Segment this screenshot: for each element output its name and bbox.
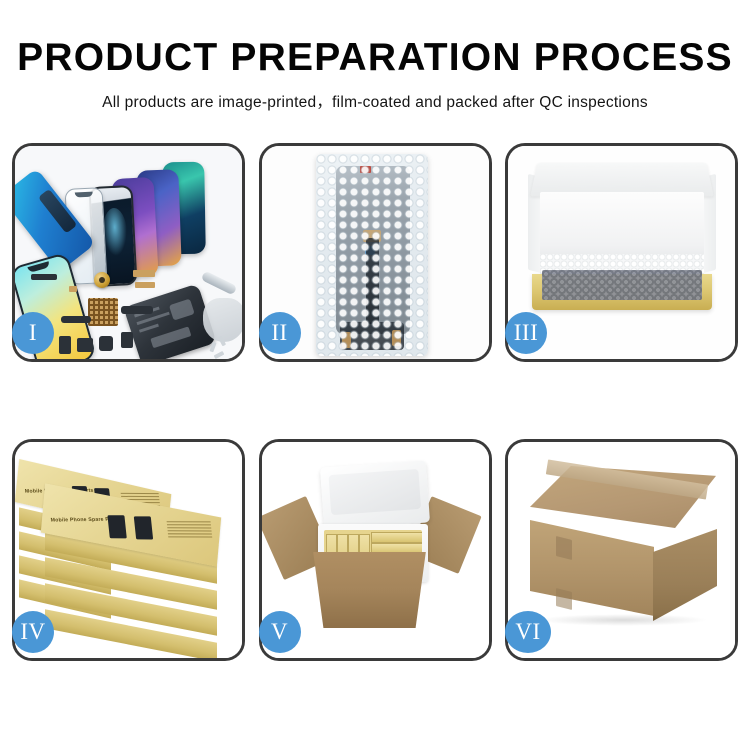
- screw-3: [214, 351, 225, 359]
- carton-seam-lower: [556, 588, 572, 610]
- header: PRODUCT PREPARATION PROCESS All products…: [0, 0, 750, 112]
- wireless-charging-coil: [94, 272, 110, 288]
- step-panel-5[interactable]: V: [259, 439, 492, 661]
- carton-front-face: [530, 520, 654, 616]
- gold-contact-pad: [88, 298, 118, 326]
- step-badge-6: VI: [505, 611, 551, 653]
- carton-body: [306, 552, 434, 628]
- styrofoam-lid: [319, 460, 429, 529]
- bubble-wrap-bag: [316, 154, 428, 356]
- carton-seam-upper: [556, 536, 572, 560]
- flex-strip-3: [59, 336, 71, 354]
- step-panel-6[interactable]: VI: [505, 439, 738, 661]
- flex-strip-2: [61, 316, 91, 323]
- step-badge-2: II: [259, 312, 301, 354]
- step-badge-1: I: [12, 312, 54, 354]
- flex-strip-4: [77, 338, 93, 352]
- page-subtitle: All products are image-printed，film-coat…: [0, 77, 750, 112]
- carton-shadow: [538, 614, 708, 626]
- flex-strip-5: [121, 306, 153, 314]
- grey-padding: [542, 270, 702, 300]
- speaker-module: [99, 336, 113, 351]
- camera-module: [121, 332, 133, 348]
- flex-strip-1: [31, 274, 57, 280]
- step-panel-2[interactable]: II: [259, 143, 492, 362]
- box-spec-lines-front: [167, 521, 213, 539]
- step-panel-4[interactable]: Mobile Phone Spare Parts Mobile: [12, 439, 245, 661]
- step-badge-5: V: [259, 611, 301, 653]
- box-screen-art-3: [107, 515, 126, 538]
- step-panel-1[interactable]: I: [12, 143, 245, 362]
- box-screen-art-4: [134, 516, 153, 539]
- step-panel-3[interactable]: III: [505, 143, 738, 362]
- tweezers-tool: [201, 271, 238, 296]
- product-preparation-infographic: PRODUCT PREPARATION PROCESS All products…: [0, 0, 750, 750]
- steps-grid: I II: [12, 143, 738, 683]
- step-badge-3: III: [505, 312, 547, 354]
- gold-flex-2: [135, 282, 155, 288]
- carton-side-face: [653, 529, 717, 621]
- technician-hand: [203, 298, 242, 342]
- bubble-texture: [316, 154, 428, 356]
- step-badge-4: IV: [12, 611, 54, 653]
- gold-flex-1: [133, 270, 155, 277]
- page-title: PRODUCT PREPARATION PROCESS: [0, 0, 750, 77]
- gold-flex-3: [69, 286, 77, 292]
